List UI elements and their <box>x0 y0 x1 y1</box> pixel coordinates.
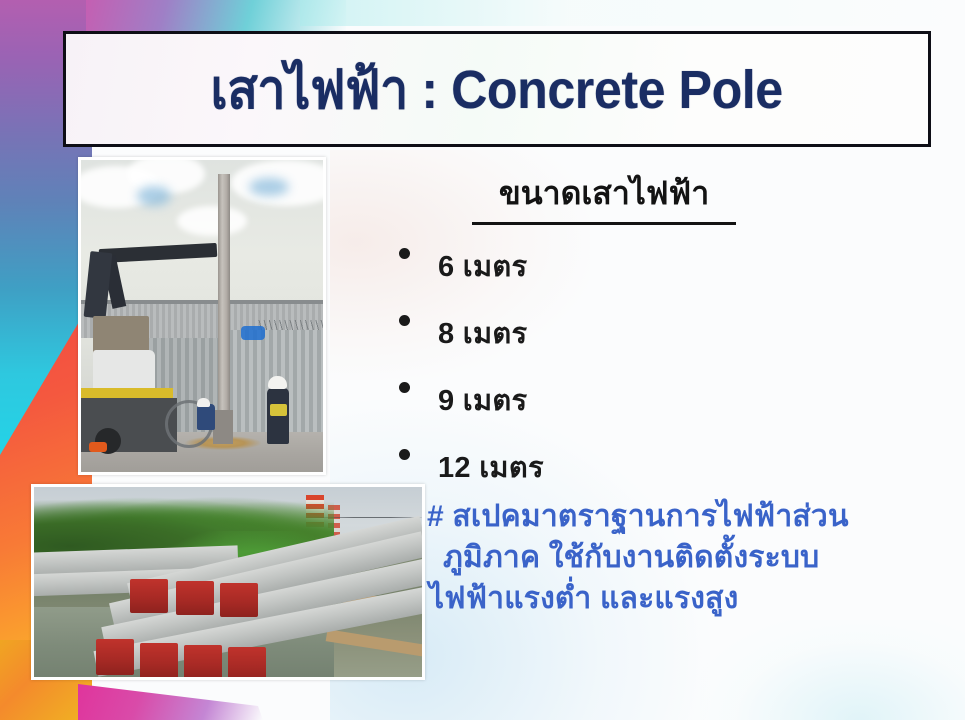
pole-size-label: 6 เมตร <box>396 243 527 289</box>
bullet-icon <box>399 248 410 259</box>
list-item: 6 เมตร <box>396 232 816 299</box>
list-item: 9 เมตร <box>396 366 816 433</box>
pole-size-label: 8 เมตร <box>396 310 527 356</box>
top-right-fade <box>300 0 965 26</box>
red-pole-end <box>184 645 222 680</box>
spec-note-line-3: ไฟฟ้าแรงต่ำ และแรงสูง <box>427 578 947 619</box>
pole-size-label: 9 เมตร <box>396 377 527 423</box>
red-pole-end <box>130 579 168 613</box>
spec-note-line-2: ภูมิภาค ใช้กับงานติดตั้งระบบ <box>427 537 947 578</box>
pole-base <box>213 410 233 444</box>
worker <box>197 404 215 430</box>
hard-hat <box>268 376 287 389</box>
slide-title: เสาไฟฟ้า : Concrete Pole <box>211 46 783 132</box>
sky-patch <box>249 178 289 196</box>
soft-cyan-glow <box>700 620 965 720</box>
pole-size-label: 12 เมตร <box>396 444 544 490</box>
red-pole-end <box>228 647 266 680</box>
pole-installation-photo <box>78 157 326 475</box>
red-pole-end <box>176 581 214 615</box>
safety-vest <box>270 404 287 416</box>
content-heading: ขนาดเสาไฟฟ้า <box>472 168 736 225</box>
pole-size-list: 6 เมตร 8 เมตร 9 เมตร 12 เมตร <box>396 232 816 500</box>
title-box: เสาไฟฟ้า : Concrete Pole <box>63 31 931 147</box>
blue-object <box>241 326 265 340</box>
sky-patch <box>137 186 171 206</box>
concrete-pole-stack-photo <box>31 484 425 680</box>
truck-cab <box>93 350 155 390</box>
concrete-pole <box>218 174 230 442</box>
bullet-icon <box>399 315 410 326</box>
cloud <box>177 206 247 236</box>
hard-hat <box>197 398 210 407</box>
list-item: 12 เมตร <box>396 433 816 500</box>
red-pole-end <box>140 643 178 679</box>
red-pole-end <box>96 639 134 675</box>
worker <box>267 388 289 444</box>
list-item: 8 เมตร <box>396 299 816 366</box>
spec-note: # สเปคมาตราฐานการไฟฟ้าส่วน ภูมิภาค ใช้กั… <box>427 496 947 619</box>
spec-note-line-1: # สเปคมาตราฐานการไฟฟ้าส่วน <box>427 496 947 537</box>
red-pole-end <box>220 583 258 617</box>
bullet-icon <box>399 449 410 460</box>
slide-canvas: เสาไฟฟ้า : Concrete Pole <box>0 0 965 720</box>
truck-light <box>89 442 107 452</box>
bullet-icon <box>399 382 410 393</box>
